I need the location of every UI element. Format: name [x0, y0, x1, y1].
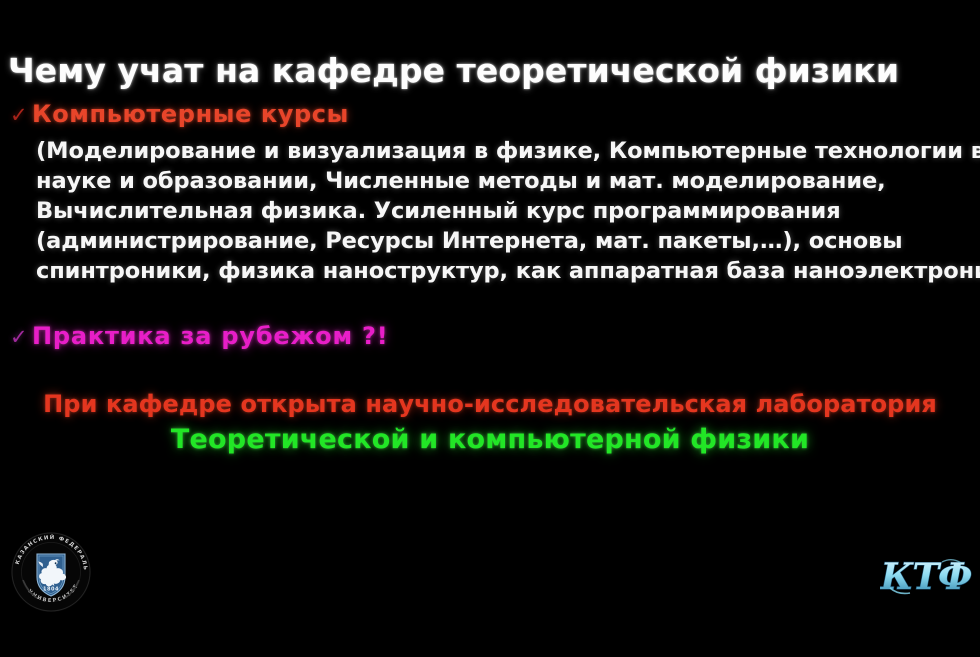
- presentation-slide: Чему учат на кафедре теоретической физик…: [0, 0, 980, 657]
- body-line: спинтроники, физика наноструктур, как ап…: [36, 256, 980, 286]
- check-mark-icon: ✓: [10, 105, 32, 126]
- bullet-label-internship-abroad: Практика за рубежом ?!: [32, 322, 388, 350]
- laboratory-announcement-line: При кафедре открыта научно-исследователь…: [0, 390, 980, 418]
- body-line: науке и образовании, Численные методы и …: [36, 166, 980, 196]
- page-title: Чему учат на кафедре теоретической физик…: [8, 51, 972, 90]
- body-line: Вычислительная физика. Усиленный курс пр…: [36, 196, 980, 226]
- kazan-federal-university-emblem-icon: КАЗАНСКИЙ ФЕДЕРАЛЬНЫЙ УНИВЕРСИТЕТ 1804: [9, 530, 93, 614]
- bullet-label-computer-courses: Компьютерные курсы: [32, 100, 349, 128]
- bullet-item-computer-courses: ✓ Компьютерные курсы: [10, 100, 349, 128]
- course-list-paragraph: (Моделирование и визуализация в физике, …: [36, 136, 980, 286]
- svg-text:1804: 1804: [43, 587, 59, 593]
- svg-text:КТФ: КТФ: [880, 556, 971, 598]
- check-mark-icon: ✓: [10, 327, 32, 348]
- body-line: (Моделирование и визуализация в физике, …: [36, 136, 980, 166]
- bullet-item-internship-abroad: ✓ Практика за рубежом ?!: [10, 322, 388, 350]
- body-line: (администрирование, Ресурсы Интернета, м…: [36, 226, 980, 256]
- laboratory-name-line: Теоретической и компьютерной физики: [0, 424, 980, 455]
- ktf-monogram-icon: КТФ: [880, 548, 972, 604]
